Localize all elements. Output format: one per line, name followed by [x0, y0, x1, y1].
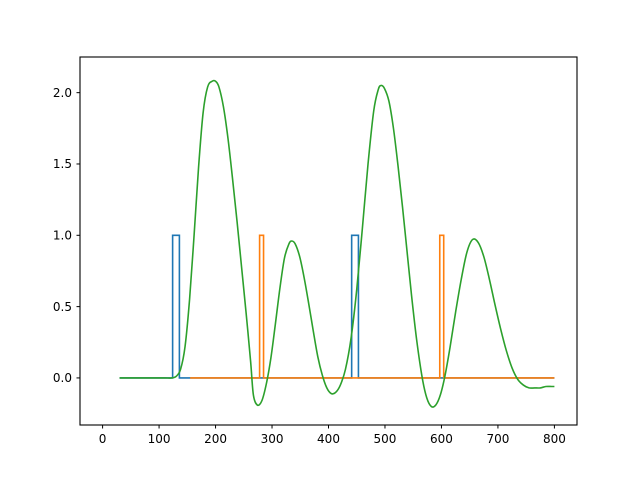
x-tick-label: 700	[486, 432, 509, 446]
x-tick-label: 600	[430, 432, 453, 446]
y-tick-label: 1.5	[53, 157, 72, 171]
x-tick-label: 0	[99, 432, 107, 446]
y-tick-label: 1.0	[53, 228, 72, 242]
y-tick-label: 0.5	[53, 300, 72, 314]
y-tick-label: 2.0	[53, 86, 72, 100]
figure-background	[0, 0, 640, 480]
x-tick-label: 800	[543, 432, 566, 446]
x-tick-label: 200	[204, 432, 227, 446]
chart-plot: 01002003004005006007008000.00.51.01.52.0	[0, 0, 640, 480]
x-tick-label: 400	[317, 432, 340, 446]
figure-canvas: 01002003004005006007008000.00.51.01.52.0	[0, 0, 640, 480]
x-tick-label: 500	[374, 432, 397, 446]
y-tick-label: 0.0	[53, 371, 72, 385]
x-tick-label: 100	[148, 432, 171, 446]
x-tick-label: 300	[261, 432, 284, 446]
